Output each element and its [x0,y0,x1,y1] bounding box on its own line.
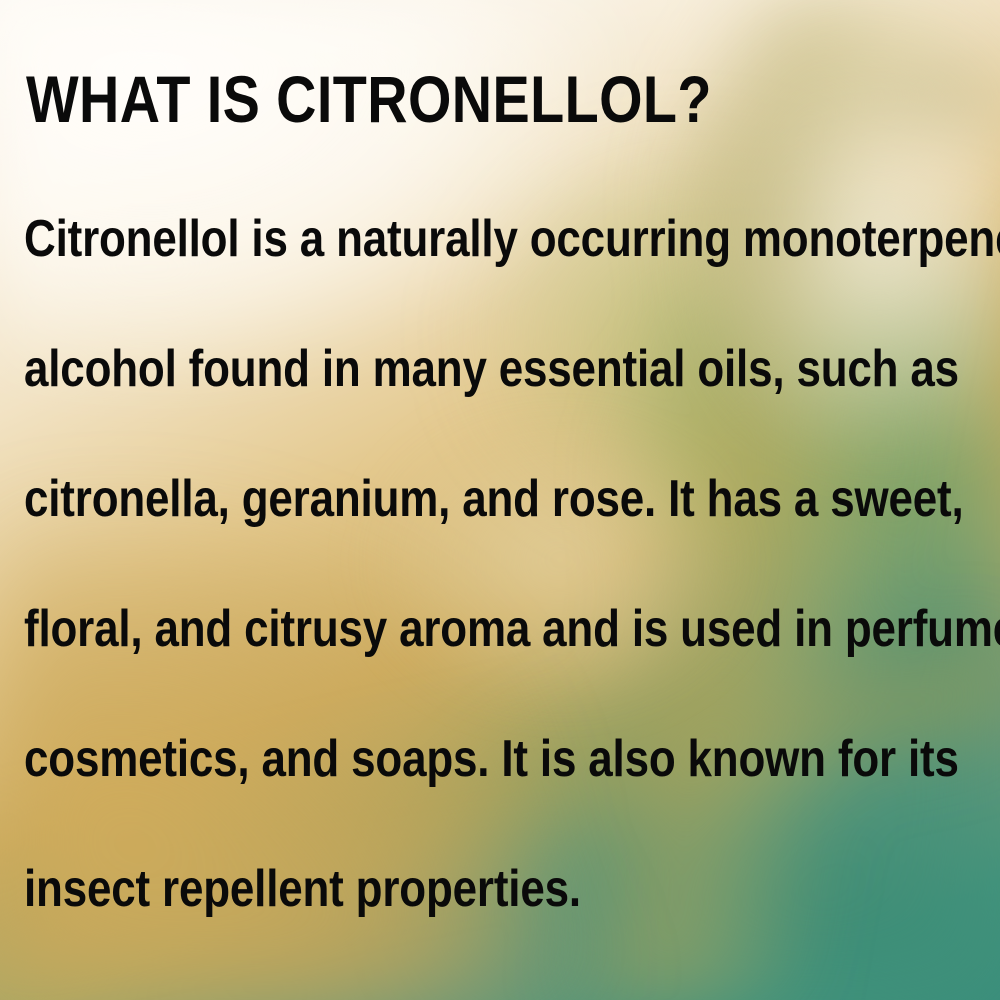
body-text-line-4: floral, and citrusy aroma and is used in… [24,603,1000,655]
citronellol-info-card: WHAT IS CITRONELLOL? Citronellol is a na… [0,0,1000,1000]
body-text-line-2: alcohol found in many essential oils, su… [24,343,959,395]
body-text-line-3: citronella, geranium, and rose. It has a… [24,473,964,525]
text-content: WHAT IS CITRONELLOL? Citronellol is a na… [0,0,1000,1000]
body-text-line-5: cosmetics, and soaps. It is also known f… [24,733,959,785]
body-text-line-1: Citronellol is a naturally occurring mon… [24,213,1000,265]
body-text-line-6: insect repellent properties. [24,863,581,915]
page-title: WHAT IS CITRONELLOL? [26,66,712,132]
